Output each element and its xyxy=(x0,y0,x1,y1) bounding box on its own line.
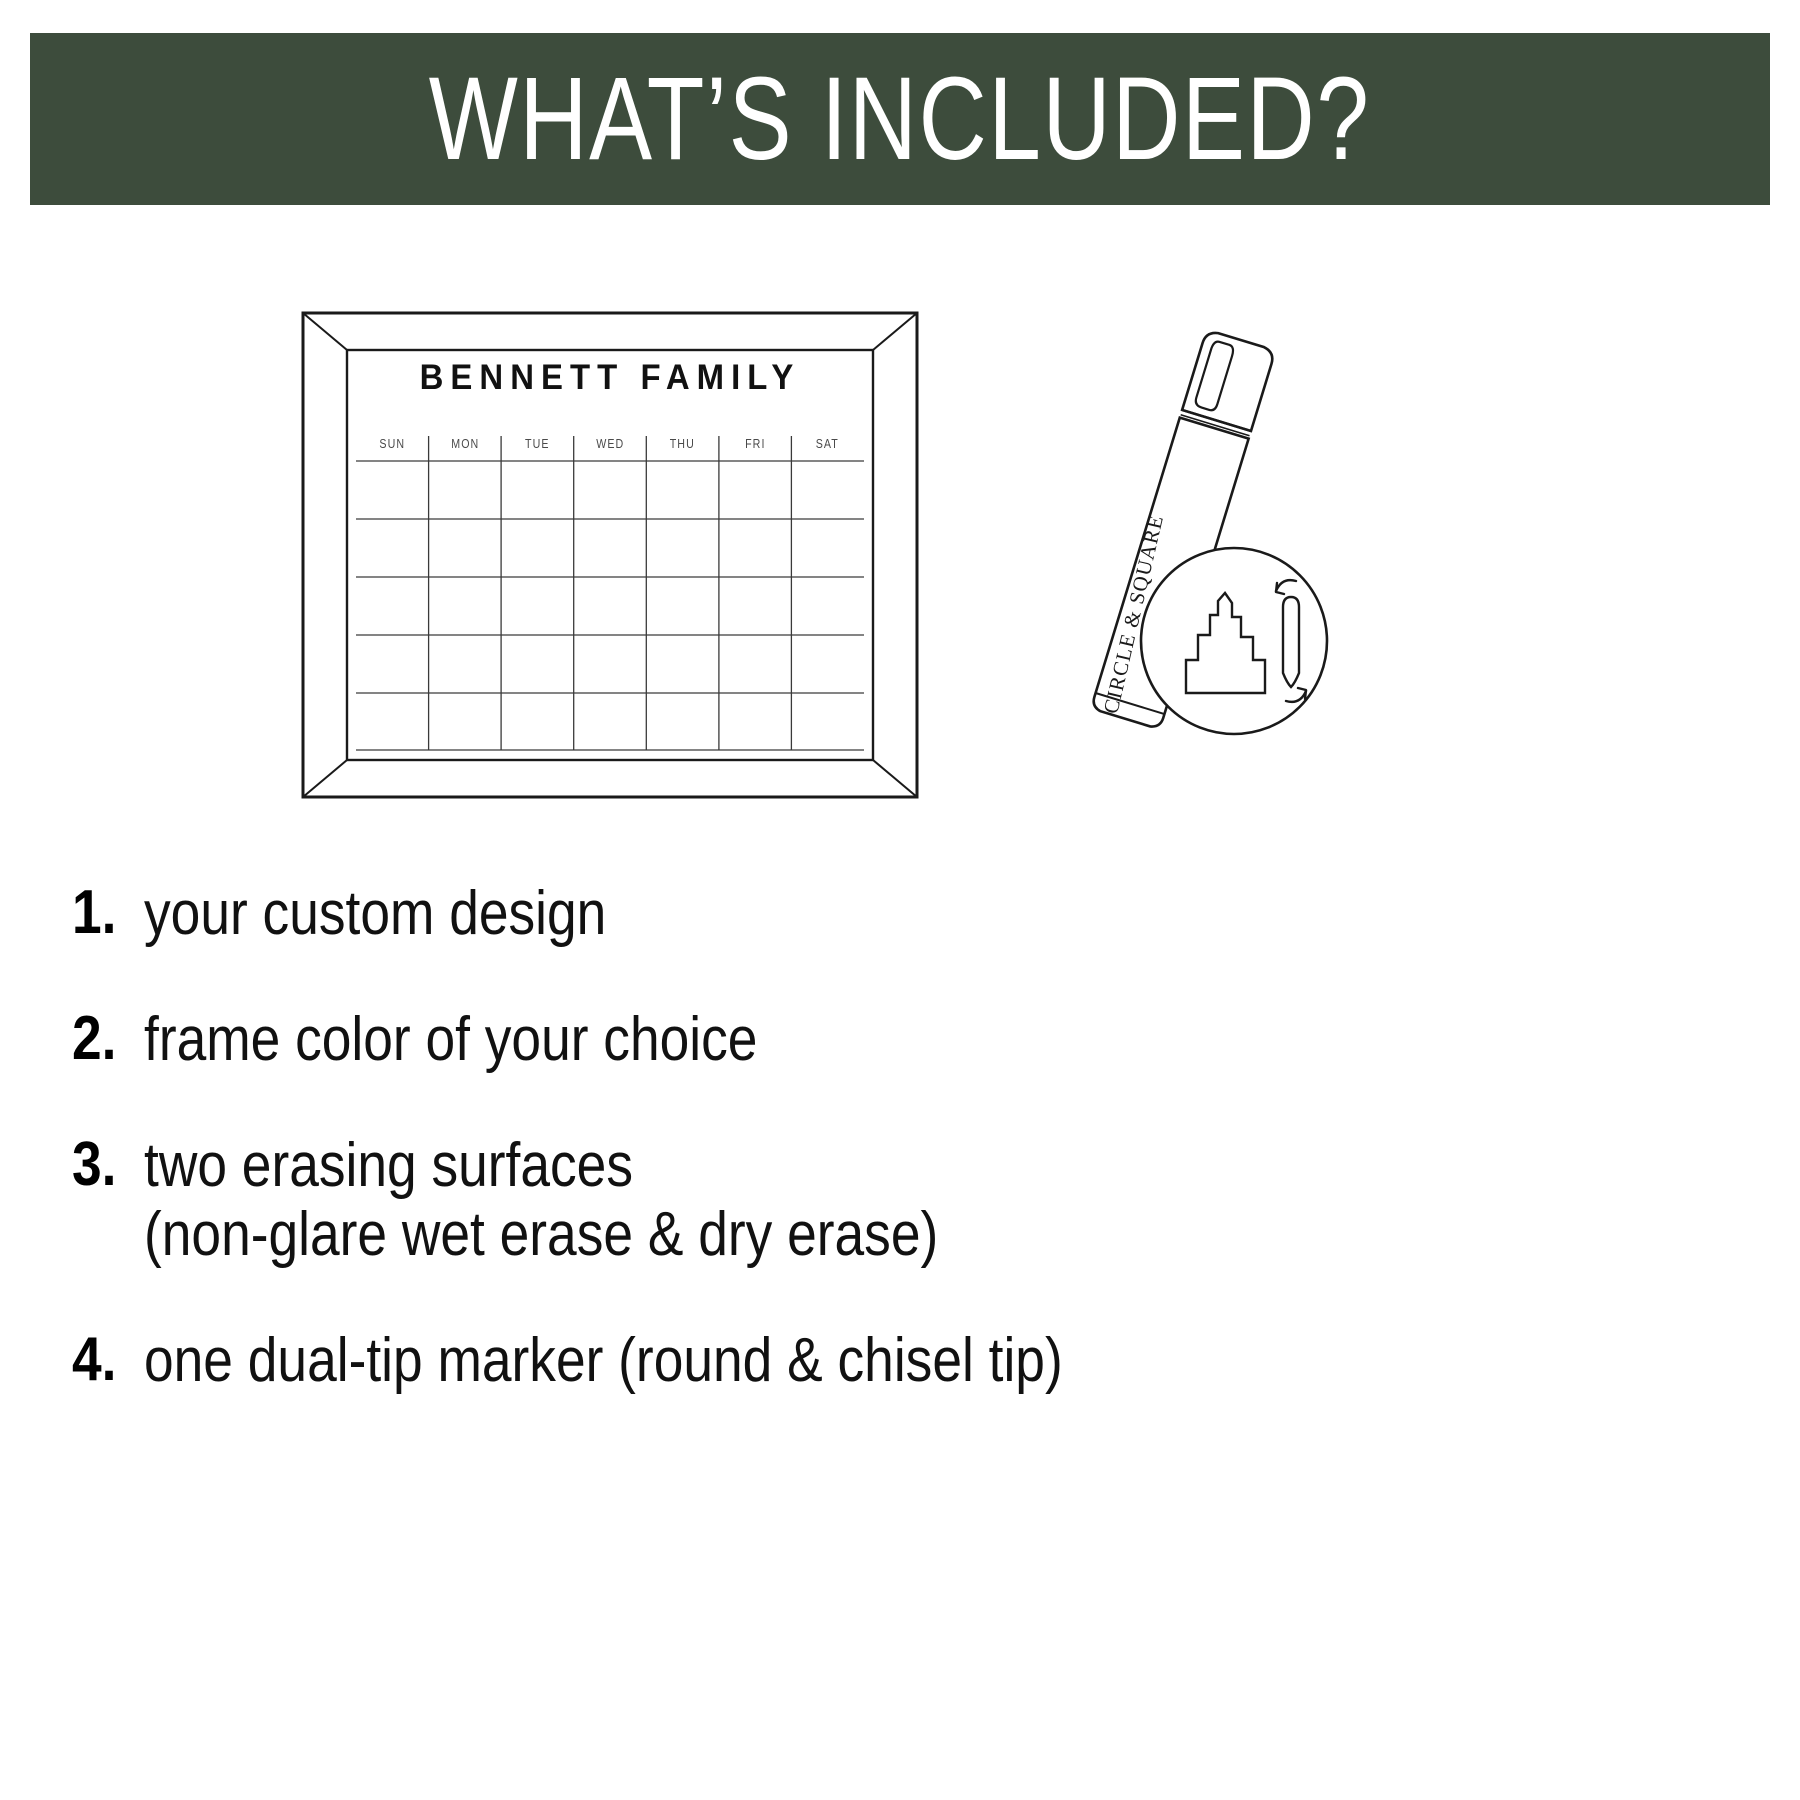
list-item: 1. your custom design xyxy=(0,880,1800,948)
page-title: WHAT’S INCLUDED? xyxy=(429,60,1371,178)
marker-illustration: CIRCLE & SQUARE xyxy=(1020,315,1340,765)
calendar-day-mon: MON xyxy=(435,436,495,451)
framed-calendar-illustration: BENNETT FAMILY SUN MON TUE WED THU FRI S… xyxy=(300,310,920,800)
frame-inner-edge xyxy=(347,350,873,760)
list-item: 2. frame color of your choice xyxy=(0,1006,1800,1074)
list-item-number: 4. xyxy=(72,1327,125,1392)
calendar-day-header-row: SUN MON TUE WED THU FRI SAT xyxy=(356,436,864,451)
calendar-day-tue: TUE xyxy=(508,436,568,451)
header-band: WHAT’S INCLUDED? xyxy=(30,33,1770,205)
included-items-list: 1. your custom design 2. frame color of … xyxy=(0,880,1800,1395)
list-item-text-block: two erasing surfaces (non-glare wet eras… xyxy=(144,1132,938,1268)
list-item-text: one dual-tip marker (round & chisel tip) xyxy=(144,1327,1063,1395)
list-item: 4. one dual-tip marker (round & chisel t… xyxy=(0,1327,1800,1395)
list-item-text-line2: (non-glare wet erase & dry erase) xyxy=(144,1201,938,1269)
list-item-number: 1. xyxy=(72,880,125,945)
list-item-text-line1: two erasing surfaces xyxy=(144,1132,938,1200)
calendar-day-thu: THU xyxy=(653,436,713,451)
calendar-day-sat: SAT xyxy=(798,436,858,451)
list-item-number: 2. xyxy=(72,1006,125,1071)
list-item-text: your custom design xyxy=(144,880,606,948)
calendar-day-fri: FRI xyxy=(725,436,785,451)
dual-tip-badge-group xyxy=(1141,548,1327,734)
calendar-day-sun: SUN xyxy=(363,436,423,451)
marker-svg: CIRCLE & SQUARE xyxy=(1020,315,1340,765)
illustration-area: BENNETT FAMILY SUN MON TUE WED THU FRI S… xyxy=(0,240,1800,860)
calendar-board-title: BENNETT FAMILY xyxy=(375,358,845,398)
list-item: 3. two erasing surfaces (non-glare wet e… xyxy=(0,1132,1800,1268)
list-item-number: 3. xyxy=(72,1132,125,1197)
calendar-day-wed: WED xyxy=(580,436,640,451)
round-tip-icon xyxy=(1283,597,1299,687)
list-item-text: frame color of your choice xyxy=(144,1006,757,1074)
